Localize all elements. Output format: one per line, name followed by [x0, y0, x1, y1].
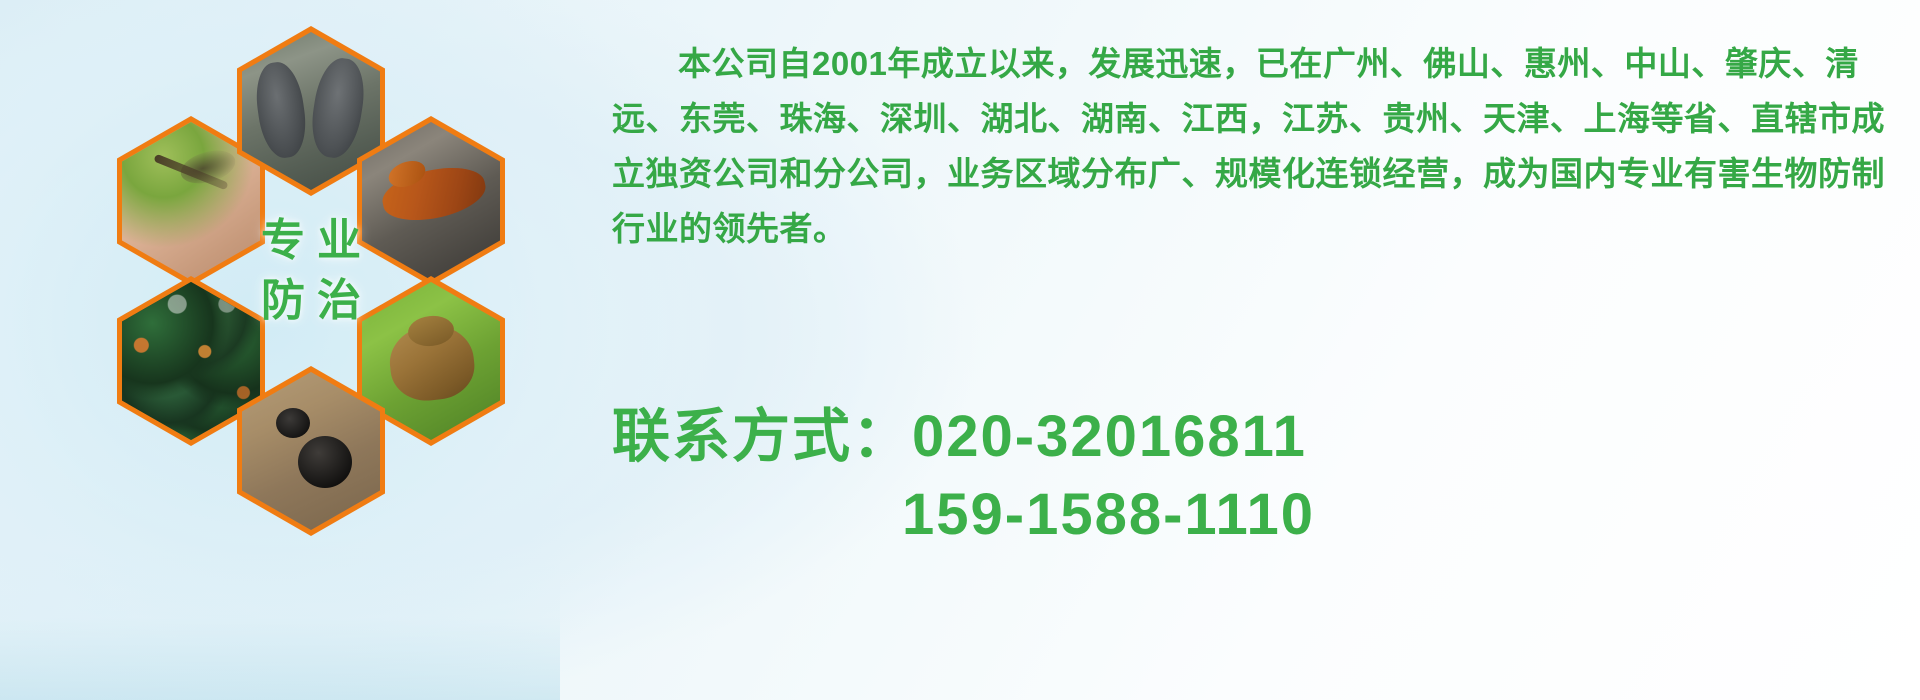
logo-slogan-line-1: 专业 [249, 219, 373, 263]
hexagon-image-cluster: 专业 防治 [85, 8, 585, 558]
promo-banner: 专业 防治 本公司自2001年成立以来，发展迅速，已在广州、佛山、惠州、中山、肇… [0, 0, 1920, 700]
company-intro-paragraph: 本公司自2001年成立以来，发展迅速，已在广州、佛山、惠州、中山、肇庆、清远、东… [612, 36, 1912, 256]
hexagon-photo-ant-inner [242, 372, 380, 530]
cockroach-icon [362, 122, 500, 280]
contact-phone-secondary[interactable]: 159-1588-1110 [612, 476, 1912, 554]
company-intro: 本公司自2001年成立以来，发展迅速，已在广州、佛山、惠州、中山、肇庆、清远、东… [612, 36, 1912, 256]
contact-phone-primary[interactable]: 联系方式：020-32016811 [612, 398, 1912, 476]
logo-slogan-line-2: 防治 [249, 279, 373, 323]
contact-block: 联系方式：020-32016811 159-1588-1110 [612, 398, 1912, 554]
hexagon-photo-cockroach-inner [362, 122, 500, 280]
ant-icon [242, 372, 380, 530]
